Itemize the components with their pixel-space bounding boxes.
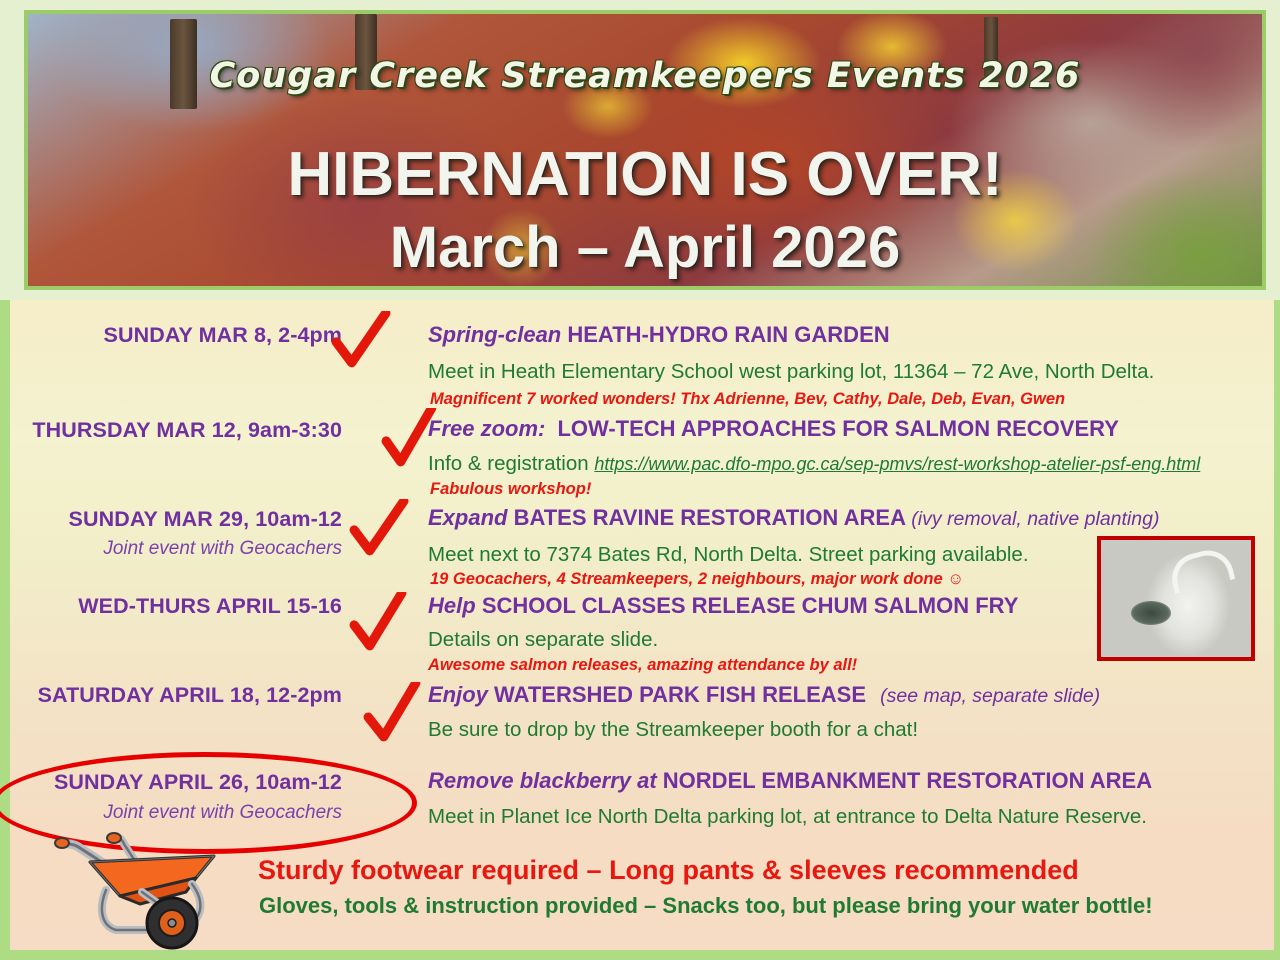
event-note: 19 Geocachers, 4 Streamkeepers, 2 neighb… (430, 570, 964, 589)
banner-frame: Cougar Creek Streamkeepers Events 2026 H… (0, 0, 1280, 300)
event-note: Awesome salmon releases, amazing attenda… (428, 656, 857, 675)
event-detail: Details on separate slide. (428, 628, 658, 652)
footer-provisions: Gloves, tools & instruction provided – S… (259, 893, 1153, 919)
event-detail: Meet in Planet Ice North Delta parking l… (428, 805, 1147, 829)
event-title-lead: Enjoy (428, 682, 488, 707)
checkmark-icon (348, 592, 410, 654)
event-title-rest: HEATH-HYDRO RAIN GARDEN (567, 322, 889, 347)
event-title: Remove blackberry at NORDEL EMBANKMENT R… (428, 768, 1152, 794)
checkmark-icon (330, 311, 392, 373)
event-date: SUNDAY MAR 8, 2-4pm (0, 323, 342, 348)
footer-requirement: Sturdy footwear required – Long pants & … (258, 855, 1079, 886)
checkmark-icon (362, 682, 424, 744)
banner-headline-secondary: March – April 2026 (28, 214, 1262, 281)
banner-title: Cougar Creek Streamkeepers Events 2026 (28, 56, 1262, 96)
fry-in-bucket (1131, 601, 1171, 625)
poster: Cougar Creek Streamkeepers Events 2026 H… (0, 0, 1280, 960)
event-detail-text: Info & registration (428, 452, 589, 475)
event-title: Free zoom: LOW-TECH APPROACHES FOR SALMO… (428, 416, 1119, 442)
event-title-lead: Spring-clean (428, 322, 561, 347)
event-title-lead: Help (428, 593, 476, 618)
event-title-lead: Expand (428, 505, 507, 530)
event-detail: Meet in Heath Elementary School west par… (428, 360, 1154, 384)
event-title-lead: Remove blackberry at (428, 768, 657, 793)
event-date: SUNDAY MAR 29, 10am-12 (0, 507, 342, 532)
event-date: WED-THURS APRIL 15-16 (0, 594, 342, 619)
event-title: Help SCHOOL CLASSES RELEASE CHUM SALMON … (428, 593, 1018, 619)
event-date-sub: Joint event with Geocachers (0, 538, 342, 560)
salmon-fry-bucket-photo (1097, 536, 1255, 661)
wheelbarrow-icon (46, 826, 251, 951)
event-note: Fabulous workshop! (430, 480, 591, 499)
event-detail: Meet next to 7374 Bates Rd, North Delta.… (428, 543, 1029, 567)
event-date: THURSDAY MAR 12, 9am-3:30 (0, 418, 342, 443)
bucket-handle (1167, 545, 1236, 594)
event-title-paren: (ivy removal, native planting) (911, 508, 1159, 530)
banner-photo: Cougar Creek Streamkeepers Events 2026 H… (24, 10, 1266, 290)
event-date: SATURDAY APRIL 18, 12-2pm (0, 683, 342, 708)
event-title-rest: LOW-TECH APPROACHES FOR SALMON RECOVERY (551, 416, 1118, 441)
event-title: Expand BATES RAVINE RESTORATION AREA (iv… (428, 505, 1159, 531)
event-title-rest: SCHOOL CLASSES RELEASE CHUM SALMON FRY (482, 593, 1019, 618)
event-detail: Be sure to drop by the Streamkeeper boot… (428, 718, 918, 742)
event-title-lead: Free zoom: (428, 416, 545, 441)
registration-link[interactable]: https://www.pac.dfo-mpo.gc.ca/sep-pmvs/r… (594, 454, 1200, 474)
event-title-rest: WATERSHED PARK FISH RELEASE (494, 682, 866, 707)
event-note: Magnificent 7 worked wonders! Thx Adrien… (430, 390, 1065, 409)
event-title-paren: (see map, separate slide) (872, 685, 1100, 707)
event-title: Enjoy WATERSHED PARK FISH RELEASE (see m… (428, 682, 1100, 708)
event-title-rest: BATES RAVINE RESTORATION AREA (514, 505, 906, 530)
checkmark-icon (348, 499, 410, 561)
event-detail: Info & registration https://www.pac.dfo-… (428, 452, 1200, 476)
event-title-rest: NORDEL EMBANKMENT RESTORATION AREA (663, 768, 1152, 793)
event-title: Spring-clean HEATH-HYDRO RAIN GARDEN (428, 322, 890, 348)
banner-headline-primary: HIBERNATION IS OVER! (28, 139, 1262, 210)
